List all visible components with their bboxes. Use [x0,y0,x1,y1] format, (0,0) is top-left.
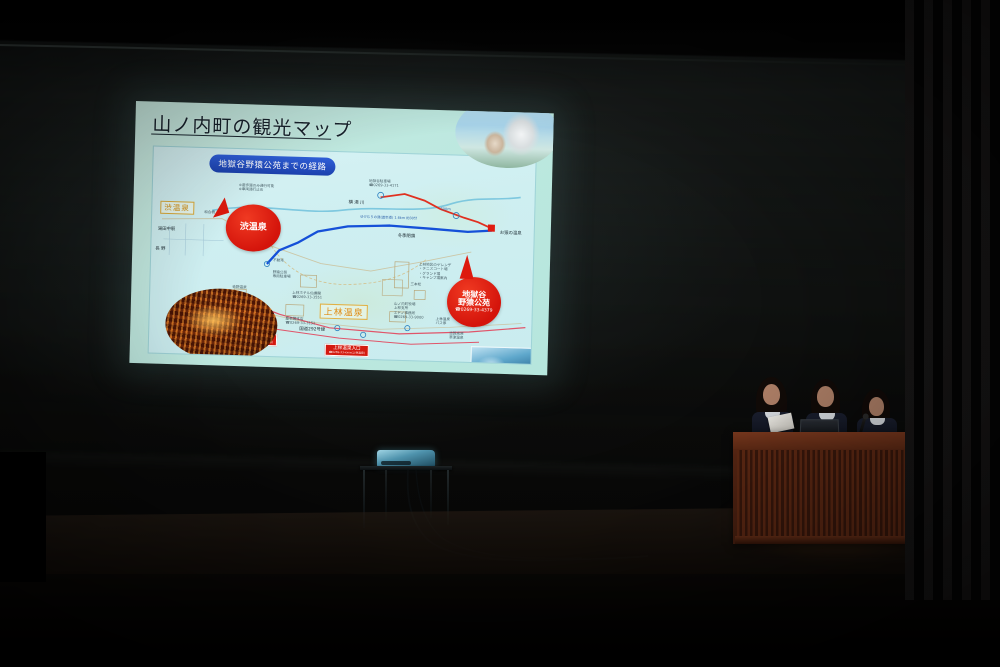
callout-shibu-label: 渋温泉 [240,223,267,233]
map-label-kanbayashi-hotel: 上林ホテル仙壽閣 ☎0269-33-3551 [292,291,322,301]
slide-canvas: 山ノ内町の観光マップ [129,101,553,375]
map-label-foot-only-note: ※遊歩道のみ通行可能 ※車両通行止め [239,183,275,193]
auditorium-scene: 山ノ内町の観光マップ [0,0,1000,667]
presenter-center-head [817,386,834,407]
ic-badge-kanbayashi-east: 上林温泉入口 ☎0269-33-xxxx(上林温泉) [325,344,369,357]
stage-front-apron [0,574,1000,667]
wooden-podium [733,432,910,544]
photo-jigokudani-winter [470,346,537,365]
map-label-river: 横 湯 川 [348,200,364,206]
callout-jigoku-line2: 野猿公苑 [458,299,490,308]
podium-slats [737,450,906,538]
map-label-route-292: 国道292号線 [299,327,325,333]
map-label-distance: 700m [440,207,450,212]
podium-top-rail [733,432,910,449]
map-label-kanbayashi-busstop: 上林温泉 バス停 [435,317,450,326]
tag-kanbayashi-onsen: 上林温泉 [320,304,368,320]
map-route-banner: 地獄谷野猿公苑までの経路 [209,154,335,176]
ic-badge-sub: ☎0269-33-xxxx(上林温泉) [329,351,365,355]
tag-shibu-onsen: 渋温泉 [160,201,194,215]
map-label-sanbongi: 三本松 [410,282,421,287]
stage-curtain-right [905,0,1000,600]
tourism-map-panel: 地獄谷野猿公苑までの経路 横 湯 川 冬季閉鎖 ゆけむりの道(遊歩道) 1.6k… [148,146,537,365]
presenter-left-head [763,384,780,405]
map-label-legend: 上林地区のゲレンデ ・テニスコート場 ・グランド場 ・キャンプ場案内 [419,262,452,281]
map-label-yudanaka-station: 湯田中駅 [158,227,176,233]
map-label-nozaru-parking: 野猿公苑 専用駐車場 [273,270,291,279]
map-label-jigokudani-parking: 地獄谷駐車場 ☎0269-33-4171 [369,179,399,189]
callout-jigoku-phone: ☎0269-33-4379 [455,308,493,314]
map-label-town-office: 山ノ内町役場 上林支所 エドノ事務所 ☎0269-33-9000 [394,302,424,321]
map-label-fudo-taki: 不動滝 [273,258,284,263]
stage-wing-flat-left [0,452,46,582]
map-label-shiga-kusatsu: 志賀高原 草津温泉 [449,331,464,340]
presenter-right-head [869,397,884,416]
podium-base [735,536,913,544]
map-label-oshare-no-yu: お猿の温泉 [500,231,522,237]
callout-tail-icon [460,255,475,279]
projected-slide: 山ノ内町の観光マップ [129,101,553,375]
map-label-winter-closed: 冬季閉鎖 [398,234,416,240]
map-label-nagano: 長 野 [155,247,165,253]
map-label-kokuya: 塵表閣本店 ☎0269-33-3151 [285,317,315,327]
